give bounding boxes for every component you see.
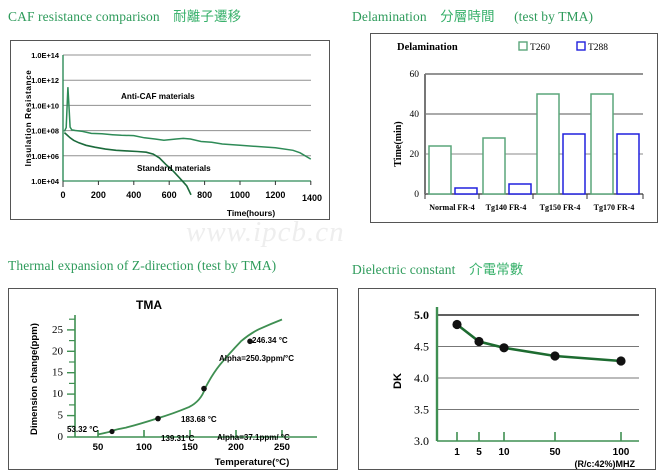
dk-chart-svg: 5.0 4.5 4.0 3.5 3.0 1 5 10 50 100 (R/c:4… <box>359 289 655 469</box>
tma-marker-0 <box>109 429 114 434</box>
tma-marker-1 <box>155 416 161 422</box>
dk-ytick-0: 3.0 <box>414 434 429 448</box>
caf-xtick-1: 200 <box>91 190 106 200</box>
tma-chart[interactable]: TMA 0 5 10 15 20 25 <box>8 288 338 470</box>
tma-title-en: Thermal expansion of Z-direction (test b… <box>8 258 276 273</box>
tma-ytick-1: 5 <box>58 410 64 422</box>
caf-yaxis-label: Insulation Resistance <box>24 70 33 167</box>
caf-xtick-0: 0 <box>60 190 65 200</box>
delam-cat-0: Normal FR-4 <box>429 203 475 212</box>
bar-t288-0 <box>455 188 477 194</box>
dk-xtick-0: 1 <box>454 447 460 458</box>
caf-xtick-7: 1400 <box>302 193 322 203</box>
tma-xtick-2: 150 <box>182 442 198 453</box>
panel-caf-title: CAF resistance comparison 耐離子遷移 <box>8 5 241 25</box>
caf-ytick-5: 1.0E+14 <box>31 51 60 60</box>
tma-annotation-3: 246.34 °C <box>252 336 288 345</box>
delam-cat-2: Tg150 FR-4 <box>540 203 581 212</box>
caf-xtick-3: 600 <box>162 190 177 200</box>
dk-xaxis-label: (R/c:42%)MHZ <box>574 459 635 469</box>
tma-xtick-1: 100 <box>136 442 152 453</box>
dk-ytick-1: 3.5 <box>414 403 429 417</box>
panel-delamination-title: Delamination 分層時間 (test by TMA) <box>352 5 593 25</box>
delam-cat-1: Tg140 FR-4 <box>486 203 527 212</box>
legend-label-t288: T288 <box>588 43 608 53</box>
dk-point-2 <box>499 343 508 352</box>
delamination-title: Delamination 分層時間 (test by TMA) <box>352 5 593 25</box>
caf-ytick-3: 1.0E+10 <box>31 101 59 110</box>
dk-ytick-3: 4.5 <box>414 340 429 354</box>
tma-ytick-0: 0 <box>58 431 64 443</box>
tma-xaxis-label: Temperature(°C) <box>215 457 290 468</box>
caf-xaxis-label: Time(hours) <box>227 208 275 218</box>
dk-ytick-2: 4.0 <box>414 371 429 385</box>
tma-annotation-alpha-low: Alpha=37.1ppm/ °C <box>217 433 290 442</box>
panel-tma-title: Thermal expansion of Z-direction (test b… <box>8 258 276 274</box>
dk-xtick-4: 100 <box>613 447 630 458</box>
delamination-title-suffix: (test by TMA) <box>498 9 593 24</box>
caf-title-cjk: 耐離子遷移 <box>163 9 241 24</box>
tma-annotation-1: 139.31°C <box>161 434 195 443</box>
delam-ytick-2: 40 <box>410 110 420 120</box>
legend-label-t260: T260 <box>530 43 550 53</box>
dk-xticks <box>457 432 621 441</box>
tma-chart-svg: TMA 0 5 10 15 20 25 <box>9 289 337 469</box>
dk-title: Dielectric constant 介電常數 <box>352 258 523 278</box>
caf-annotation-anti-caf: Anti-CAF materials <box>121 92 195 101</box>
tma-xtick-3: 200 <box>228 442 244 453</box>
panel-dk-title: Dielectric constant 介電常數 <box>352 258 523 278</box>
legend-swatch-t288 <box>577 42 585 50</box>
bar-t260-2 <box>537 94 559 194</box>
delamination-title-cjk: 分層時間 <box>430 9 494 24</box>
caf-xtick-4: 800 <box>197 190 212 200</box>
dk-point-1 <box>474 337 483 346</box>
tma-annotation-0: 53.32 °C <box>67 425 98 434</box>
dk-chart[interactable]: 5.0 4.5 4.0 3.5 3.0 1 5 10 50 100 (R/c:4… <box>358 288 656 470</box>
delam-ytick-0: 0 <box>414 190 419 200</box>
bar-t288-1 <box>509 184 531 194</box>
tma-inner-title: TMA <box>136 298 162 312</box>
dk-title-en: Dielectric constant <box>352 262 455 277</box>
dk-xtick-1: 5 <box>476 447 482 458</box>
delam-ytick-3: 60 <box>410 70 420 80</box>
bar-t260-1 <box>483 138 505 194</box>
tma-ytick-4: 20 <box>52 345 64 357</box>
dk-ytick-4: 5.0 <box>414 308 429 322</box>
delam-yaxis-label: Time(min) <box>393 121 404 166</box>
caf-xtick-5: 1000 <box>230 190 250 200</box>
legend-swatch-t260 <box>519 42 527 50</box>
caf-annotation-standard: Standard materials <box>137 164 211 173</box>
tma-marker-2 <box>201 386 207 392</box>
dk-point-4 <box>616 356 625 365</box>
tma-yaxis-label: Dimension change(ppm) <box>29 323 40 435</box>
caf-xtick-2: 400 <box>126 190 141 200</box>
dk-xtick-3: 50 <box>549 447 561 458</box>
delam-cat-3: Tg170 FR-4 <box>594 203 635 212</box>
dk-xtick-2: 10 <box>498 447 510 458</box>
tma-ytick-2: 10 <box>52 388 64 400</box>
delamination-legend: T260 T288 <box>519 42 608 53</box>
caf-gridlines <box>63 55 311 181</box>
caf-chart[interactable]: Anti-CAF materials Standard materials 1.… <box>10 40 330 220</box>
watermark: www.ipcb.cn <box>186 216 345 249</box>
caf-title-en: CAF resistance comparison <box>8 9 160 24</box>
bar-t288-3 <box>617 134 639 194</box>
dk-point-0 <box>452 320 461 329</box>
bar-t260-0 <box>429 146 451 194</box>
delamination-inner-title: Delamination <box>397 42 458 53</box>
tma-annotation-alpha-high: Alpha=250.3ppm/°C <box>219 354 294 363</box>
bar-t260-3 <box>591 94 613 194</box>
tma-xtick-4: 250 <box>274 442 290 453</box>
caf-ytick-1: 1.0E+06 <box>31 152 59 161</box>
caf-xtick-6: 1200 <box>265 190 285 200</box>
delam-ytick-1: 20 <box>410 150 420 160</box>
caf-title: CAF resistance comparison 耐離子遷移 <box>8 5 241 25</box>
delamination-title-en: Delamination <box>352 9 427 24</box>
tma-title: Thermal expansion of Z-direction (test b… <box>8 258 276 274</box>
caf-chart-svg: Anti-CAF materials Standard materials 1.… <box>11 41 329 219</box>
caf-ytick-2: 1.0E+08 <box>31 127 59 136</box>
tma-annotation-2: 183.68 °C <box>181 415 217 424</box>
delamination-chart-svg: Delamination T260 T288 60 40 20 0 <box>371 34 657 222</box>
dk-title-cjk: 介電常數 <box>459 262 523 277</box>
tma-ytick-5: 25 <box>52 324 64 336</box>
tma-ytick-3: 15 <box>52 367 64 379</box>
caf-ytick-4: 1.0E+12 <box>31 76 59 85</box>
dk-point-3 <box>550 351 559 360</box>
caf-ytick-0: 1.0E+04 <box>31 177 60 186</box>
tma-yticks <box>67 319 75 437</box>
tma-xtick-0: 50 <box>93 442 104 453</box>
delamination-chart[interactable]: Delamination T260 T288 60 40 20 0 <box>370 33 658 223</box>
dk-yaxis-label: DK <box>392 373 404 389</box>
bar-t288-2 <box>563 134 585 194</box>
